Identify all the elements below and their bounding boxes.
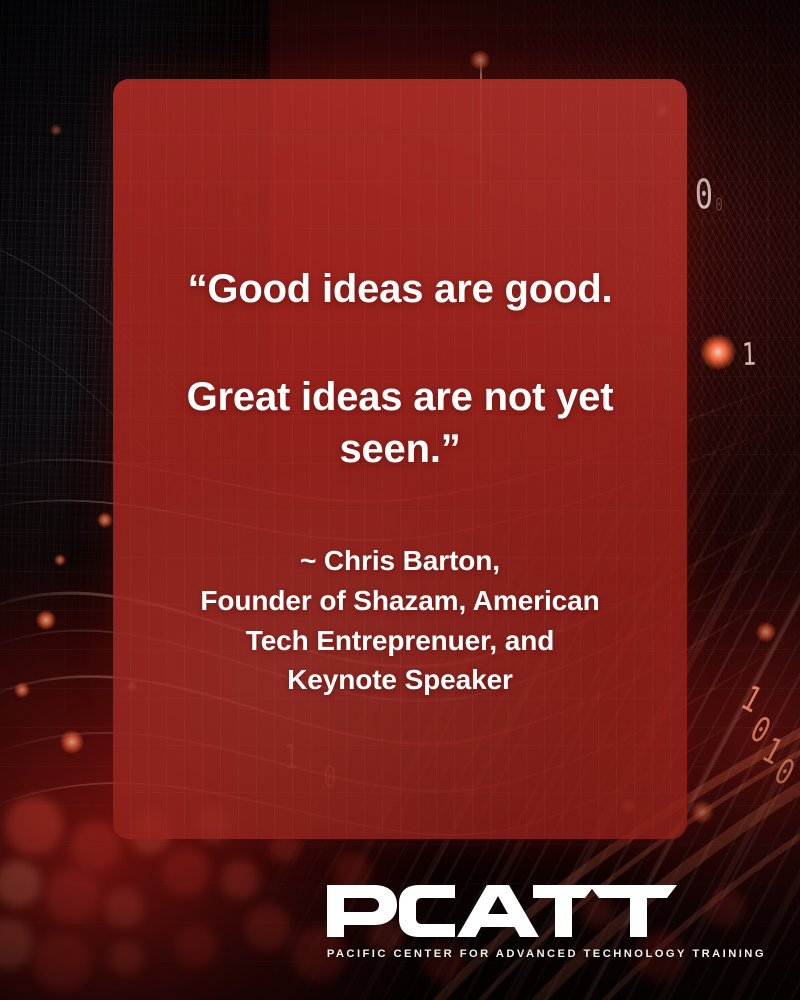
quote-card: “Good ideas are good. Great ideas are no… — [113, 79, 687, 839]
pcatt-logo: PACIFIC CENTER FOR ADVANCED TECHNOLOGY T… — [327, 883, 766, 960]
bokeh-dot — [0, 860, 42, 908]
attribution-line-4: Keynote Speaker — [147, 660, 653, 700]
binary-digit: 0 — [769, 754, 799, 792]
binary-digit: 1 — [736, 681, 766, 719]
quote-text: “Good ideas are good. Great ideas are no… — [147, 79, 653, 475]
glow-spark — [14, 682, 30, 698]
glow-spark — [97, 512, 113, 528]
attribution-line-2: Founder of Shazam, American — [147, 581, 653, 621]
bokeh-dot — [44, 868, 100, 924]
quote-line-2: Great ideas are not yet seen.” — [147, 371, 653, 475]
bokeh-dot — [161, 847, 211, 897]
glow-spark — [700, 334, 736, 370]
glow-spark — [50, 124, 62, 136]
quote-line-1: “Good ideas are good. — [147, 263, 653, 315]
bokeh-dot — [4, 796, 64, 856]
pcatt-tagline: PACIFIC CENTER FOR ADVANCED TECHNOLOGY T… — [327, 948, 766, 960]
glow-spark — [690, 800, 714, 824]
attribution-line-3: Tech Entreprenuer, and — [147, 621, 653, 661]
bokeh-dot — [220, 860, 260, 900]
binary-digit: 0 — [745, 712, 775, 750]
bokeh-dot — [0, 918, 34, 970]
bokeh-dot — [32, 932, 92, 992]
bokeh-dot — [174, 924, 218, 968]
glow-spark — [756, 622, 776, 642]
glow-spark — [36, 610, 56, 630]
bokeh-dot — [104, 888, 144, 928]
binary-digit: 0 — [715, 197, 723, 215]
attribution-line-1: ~ Chris Barton, — [147, 541, 653, 581]
quote-attribution: ~ Chris Barton, Founder of Shazam, Ameri… — [147, 541, 653, 700]
glow-spark — [54, 554, 66, 566]
pcatt-wordmark-icon — [327, 883, 677, 939]
binary-digit: 1 — [757, 733, 787, 771]
binary-digit: 0 — [694, 175, 713, 216]
glow-spark — [60, 730, 84, 754]
bokeh-dot — [108, 940, 144, 976]
binary-digit: 1 — [742, 340, 757, 372]
poster-canvas: 011010100 “Good ideas are good. Great id… — [0, 0, 800, 1000]
bokeh-dot — [244, 904, 292, 952]
